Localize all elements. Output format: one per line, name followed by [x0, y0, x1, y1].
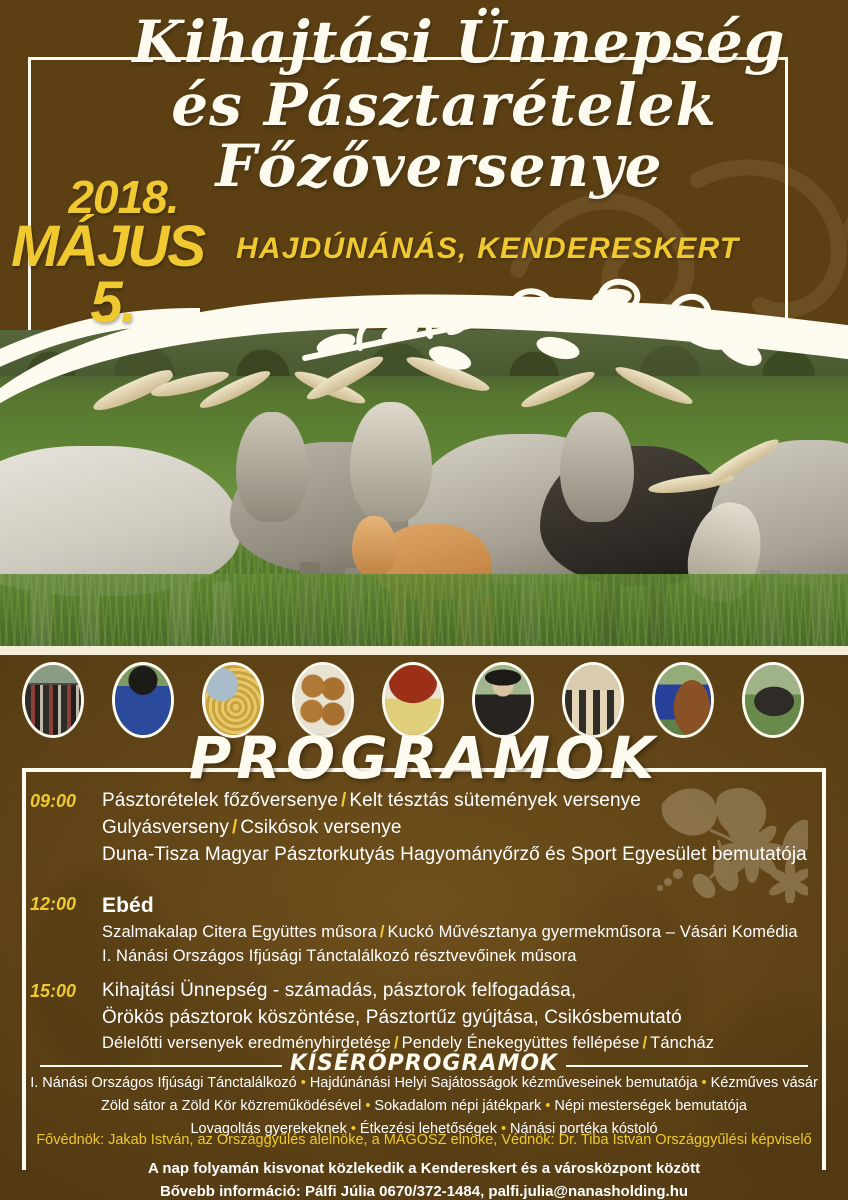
frame-bar-left [22, 770, 26, 1170]
event-poster: Kihajtási Ünnepség és Pásztarételek Főző… [0, 0, 848, 1200]
date-month: MÁJUS [0, 220, 215, 273]
poster-footer: A nap folyamán kisvonat közlekedik a Ken… [30, 1157, 818, 1200]
program-schedule: 09:00 Pásztorételek főzőversenye/Kelt té… [30, 788, 820, 1056]
slot-line: Gulyásverseny/Csikósok versenye [102, 815, 820, 842]
program-slot: 12:00 Ebéd Szalmakalap Citera Együttes m… [30, 891, 820, 968]
accompanying-line: I. Nánási Országos Ifjúsági Tánctalálkoz… [30, 1072, 818, 1095]
cattle-photo [0, 330, 848, 652]
slot-line: Szalmakalap Citera Együttes műsora/Kuckó… [102, 921, 820, 944]
accompanying-line: Zöld sátor a Zöld Kör közreműködésével•S… [30, 1095, 818, 1118]
footer-line-contact: Bővebb információ: Pálfi Júlia 0670/372-… [30, 1180, 818, 1200]
poster-title: Kihajtási Ünnepség és Pásztarételek Főző… [0, 14, 848, 194]
slot-line: Kihajtási Ünnepség - számadás, pásztorok… [102, 978, 820, 1005]
programok-heading: PROGRAMOK [0, 724, 848, 792]
slot-time: 12:00 [30, 891, 102, 916]
section-divider [0, 646, 848, 655]
program-slot: 15:00 Kihajtási Ünnepség - számadás, pás… [30, 978, 820, 1055]
date-day: 5. [0, 276, 215, 329]
slot-line: I. Nánási Országos Ifjúsági Tánctalálkoz… [102, 945, 820, 968]
slot-line: Pásztorételek főzőversenye/Kelt tésztás … [102, 788, 820, 815]
date-year: 2018. [0, 176, 215, 218]
frame-bar-right [822, 770, 826, 1170]
slot-line: Ebéd [102, 891, 820, 921]
slot-line: Duna-Tisza Magyar Pásztorkutyás Hagyomán… [102, 842, 820, 869]
slot-line: Örökös pásztorok köszöntése, Pásztortűz … [102, 1005, 820, 1032]
event-date: 2018. MÁJUS 5. [0, 176, 215, 329]
program-slot: 09:00 Pásztorételek főzőversenye/Kelt té… [30, 788, 820, 869]
title-line-1: Kihajtási Ünnepség [0, 14, 848, 71]
poster-subtitle-location: HAJDÚNÁNÁS, KENDERESKERT [236, 232, 796, 266]
title-line-2: és Pásztarételek [0, 77, 848, 134]
footer-line-transport: A nap folyamán kisvonat közlekedik a Ken… [30, 1157, 818, 1180]
accompanying-list: I. Nánási Országos Ifjúsági Tánctalálkoz… [30, 1072, 818, 1141]
patrons-line: Fővédnök: Jakab István, az Országgyűlés … [20, 1132, 828, 1148]
slot-time: 15:00 [30, 978, 102, 1003]
